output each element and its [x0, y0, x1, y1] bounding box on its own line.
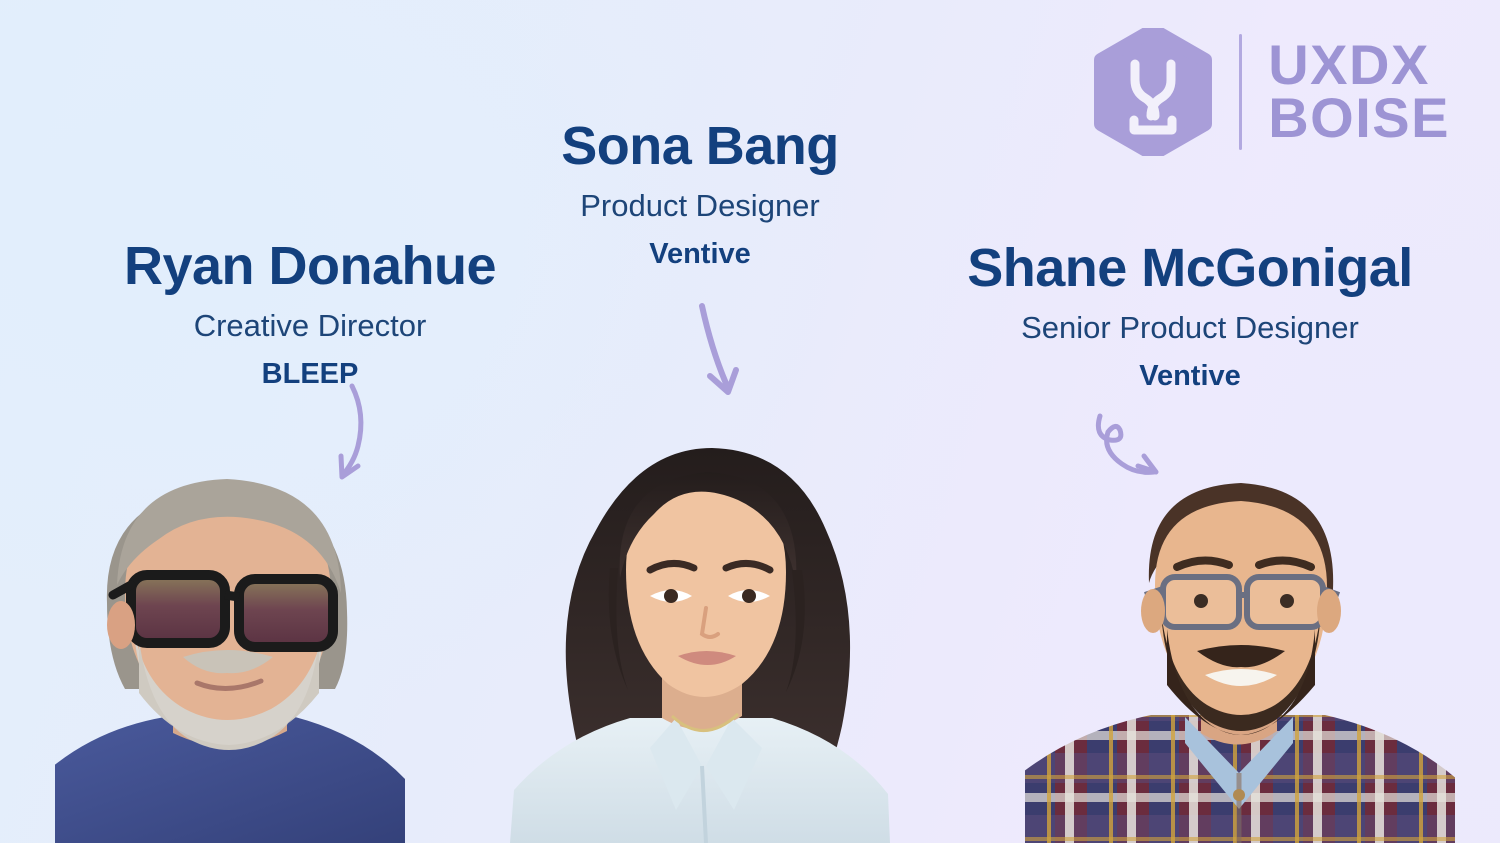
speaker-company: Ventive: [900, 361, 1480, 393]
brand-divider: [1239, 34, 1242, 150]
speaker-company: BLEEP: [30, 359, 590, 391]
uxdx-hexagon-logo-icon: [1093, 28, 1213, 156]
speaker-role: Creative Director: [30, 309, 590, 343]
curved-arrow-down-icon: [676, 296, 766, 411]
speaker-slide: UXDX BOISE Ryan Donahue Creative Directo…: [0, 0, 1500, 843]
brand-lockup: UXDX BOISE: [1093, 28, 1450, 156]
speaker-photo-shane: [1025, 443, 1455, 843]
speaker-photo-sona: [480, 418, 920, 843]
brand-line-2: BOISE: [1268, 92, 1450, 145]
speaker-photo-ryan: [55, 443, 405, 843]
speaker-company: Ventive: [500, 239, 900, 271]
brand-line-1: UXDX: [1268, 39, 1450, 92]
speaker-text-sona: Sona Bang Product Designer Ventive: [500, 118, 900, 271]
speaker-name: Sona Bang: [500, 118, 900, 175]
speaker-text-shane: Shane McGonigal Senior Product Designer …: [900, 240, 1480, 393]
speaker-name: Shane McGonigal: [900, 240, 1480, 297]
speaker-role: Senior Product Designer: [900, 311, 1480, 345]
brand-wordmark: UXDX BOISE: [1268, 39, 1450, 144]
speaker-role: Product Designer: [500, 189, 900, 223]
